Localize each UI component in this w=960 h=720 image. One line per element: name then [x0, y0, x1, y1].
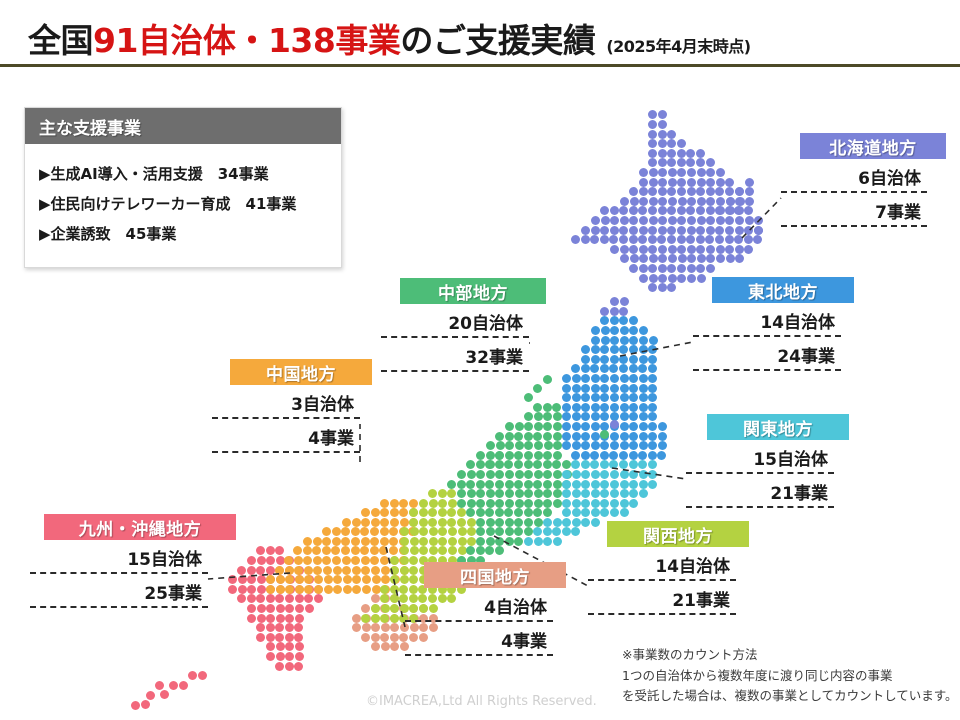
region-callout-shikoku[interactable]: 四国地方4自治体4事業: [405, 562, 553, 656]
map-dot: [687, 264, 696, 273]
map-dot: [370, 527, 379, 536]
map-dot: [505, 537, 514, 546]
map-dot: [610, 480, 619, 489]
map-dot: [600, 412, 609, 421]
map-dot: [572, 518, 581, 527]
map-dot: [351, 546, 360, 555]
underline-rule: [588, 613, 736, 615]
map-dot: [524, 441, 533, 450]
map-dot: [524, 489, 533, 498]
map-dot: [658, 120, 667, 129]
map-dot: [466, 480, 475, 489]
map-dot: [696, 264, 705, 273]
map-dot: [285, 642, 294, 651]
map-dot: [429, 537, 438, 546]
map-dot: [543, 451, 552, 460]
map-dot: [629, 187, 638, 196]
map-dot: [619, 226, 628, 235]
map-dot: [515, 470, 524, 479]
map-dot: [458, 527, 467, 536]
map-dot: [667, 226, 676, 235]
map-dot: [648, 149, 657, 158]
map-dot: [380, 633, 389, 642]
map-dot: [600, 345, 609, 354]
map-dot: [744, 245, 753, 254]
map-dot: [562, 489, 571, 498]
map-dot: [706, 226, 715, 235]
map-dot: [514, 432, 523, 441]
map-dot: [572, 393, 581, 402]
map-dot: [609, 235, 618, 244]
map-dot: [390, 614, 399, 623]
region-callout-chugoku[interactable]: 中国地方3自治体4事業: [212, 359, 360, 453]
map-dot: [390, 642, 399, 651]
map-dot: [380, 556, 389, 565]
map-dot: [247, 566, 256, 575]
map-dot: [295, 614, 304, 623]
map-dot: [389, 546, 398, 555]
map-dot: [390, 518, 399, 527]
map-dot: [600, 489, 609, 498]
map-dot: [706, 216, 715, 225]
map-dot: [257, 575, 266, 584]
map-dot: [629, 489, 638, 498]
map-dot: [419, 508, 428, 517]
map-dot: [667, 264, 676, 273]
map-dot: [648, 364, 657, 373]
region-label-chugoku: 中国地方: [230, 359, 372, 385]
map-dot: [687, 187, 696, 196]
map-dot: [591, 499, 600, 508]
map-dot: [572, 489, 581, 498]
map-dot: [725, 235, 734, 244]
map-dot: [639, 326, 648, 335]
map-dot: [572, 499, 581, 508]
map-dot: [706, 254, 715, 263]
map-dot: [571, 235, 580, 244]
map-dot: [476, 480, 485, 489]
map-dot: [390, 575, 399, 584]
map-dot: [591, 336, 600, 345]
map-dot: [658, 226, 667, 235]
map-dot: [658, 245, 667, 254]
map-dot: [639, 197, 648, 206]
map-dot: [629, 460, 638, 469]
map-dot: [534, 412, 543, 421]
map-dot: [725, 245, 734, 254]
map-dot: [725, 178, 734, 187]
map-dot: [745, 197, 754, 206]
map-dot: [457, 480, 466, 489]
map-dot: [285, 633, 294, 642]
map-dot: [658, 168, 667, 177]
region-projects-kyushu: 25事業: [30, 574, 208, 608]
map-dot: [238, 575, 247, 584]
map-dot: [352, 614, 361, 623]
map-dot: [543, 537, 552, 546]
map-dot: [256, 633, 265, 642]
map-dot: [581, 364, 590, 373]
map-dot: [572, 480, 581, 489]
value-text: 4事業: [501, 627, 547, 652]
map-dot: [600, 403, 609, 412]
map-dot: [639, 412, 648, 421]
map-dot: [754, 226, 763, 235]
map-dot: [266, 623, 275, 632]
map-dot: [438, 499, 447, 508]
map-dot: [504, 460, 513, 469]
map-dot: [495, 518, 504, 527]
map-dot: [620, 254, 629, 263]
map-dot: [600, 430, 609, 439]
map-dot: [562, 393, 571, 402]
map-dot: [410, 537, 419, 546]
map-dot: [648, 355, 657, 364]
map-dot: [486, 537, 495, 546]
map-dot: [620, 336, 629, 345]
map-dot: [504, 508, 513, 517]
map-dot: [754, 216, 763, 225]
map-dot: [486, 470, 495, 479]
map-dot: [686, 158, 695, 167]
map-dot: [610, 345, 619, 354]
map-dot: [648, 187, 657, 196]
map-dot: [515, 489, 524, 498]
map-dot: [324, 585, 333, 594]
value-text: 24事業: [777, 342, 835, 367]
map-dot: [668, 254, 677, 263]
map-dot: [726, 206, 735, 215]
map-dot: [380, 527, 389, 536]
map-dot: [667, 283, 676, 292]
map-dot: [629, 441, 638, 450]
region-municipalities-chubu: 20自治体: [381, 304, 529, 338]
map-dot: [639, 345, 648, 354]
map-dot: [476, 470, 485, 479]
map-dot: [706, 264, 715, 273]
map-dot: [247, 614, 256, 623]
map-dot: [238, 585, 247, 594]
map-dot: [553, 441, 562, 450]
map-dot: [495, 527, 504, 536]
map-dot: [600, 460, 609, 469]
map-dot: [591, 470, 600, 479]
map-dot: [745, 178, 754, 187]
map-dot: [581, 384, 590, 393]
map-dot: [438, 537, 447, 546]
map-dot: [639, 470, 648, 479]
map-dot: [476, 518, 485, 527]
underline-rule: [381, 370, 529, 372]
map-dot: [571, 364, 580, 373]
map-dot: [648, 374, 657, 383]
map-dot: [600, 470, 609, 479]
map-dot: [458, 537, 467, 546]
map-dot: [571, 527, 580, 536]
map-dot: [505, 451, 514, 460]
map-dot: [524, 499, 533, 508]
map-dot: [610, 420, 619, 429]
map-dot: [639, 226, 648, 235]
map-dot: [228, 585, 237, 594]
map-dot: [639, 403, 648, 412]
map-dot: [687, 245, 696, 254]
map-dot: [581, 480, 590, 489]
value-text: 25事業: [144, 579, 202, 604]
map-dot: [381, 575, 390, 584]
map-dot: [400, 518, 409, 527]
map-dot: [247, 594, 256, 603]
map-dot: [371, 633, 380, 642]
map-dot: [629, 403, 638, 412]
map-dot: [371, 518, 380, 527]
map-dot: [562, 460, 571, 469]
region-callout-chubu[interactable]: 中部地方20自治体32事業: [381, 278, 529, 372]
slide-root: 全国91自治体・138事業のご支援実績 (2025年4月末時点) 主な支援事業 …: [0, 0, 960, 720]
map-dot: [256, 566, 265, 575]
map-dot: [380, 508, 389, 517]
map-dot: [361, 556, 370, 565]
map-dot: [610, 216, 619, 225]
map-dot: [495, 451, 504, 460]
map-dot: [600, 451, 609, 460]
map-dot: [620, 470, 629, 479]
map-dot: [620, 245, 629, 254]
map-dot: [581, 374, 590, 383]
map-dot: [543, 460, 552, 469]
map-dot: [658, 187, 667, 196]
map-dot: [543, 489, 552, 498]
map-dot: [333, 575, 342, 584]
map-dot: [361, 604, 370, 613]
map-dot: [257, 604, 266, 613]
map-dot: [667, 149, 676, 158]
map-dot: [371, 642, 380, 651]
value-text: 7事業: [875, 198, 921, 223]
map-dot: [515, 499, 524, 508]
value-text: 21事業: [672, 586, 730, 611]
map-dot: [658, 432, 667, 441]
map-dot: [495, 480, 504, 489]
map-dot: [419, 499, 428, 508]
map-dot: [495, 537, 504, 546]
map-dot: [370, 537, 379, 546]
map-dot: [562, 508, 571, 517]
map-dot: [276, 575, 285, 584]
region-callout-kansai[interactable]: 関西地方14自治体21事業: [588, 521, 736, 615]
map-dot: [620, 422, 629, 431]
map-dot: [600, 480, 609, 489]
map-dot: [591, 403, 600, 412]
map-dot: [342, 518, 351, 527]
region-callout-tohoku[interactable]: 東北地方14自治体24事業: [693, 277, 841, 371]
map-dot: [600, 499, 609, 508]
map-dot: [639, 355, 648, 364]
map-dot: [553, 451, 562, 460]
map-dot: [247, 604, 256, 613]
map-dot: [610, 432, 619, 441]
map-dot: [495, 489, 504, 498]
map-dot: [543, 422, 552, 431]
map-dot: [390, 633, 399, 642]
map-dot: [629, 374, 638, 383]
map-dot: [572, 508, 581, 517]
region-projects-shikoku: 4事業: [405, 622, 553, 656]
map-dot: [342, 566, 351, 575]
map-dot: [553, 518, 562, 527]
map-dot: [610, 441, 619, 450]
map-dot: [648, 110, 657, 119]
map-dot: [610, 374, 619, 383]
map-dot: [648, 130, 657, 139]
map-dot: [362, 585, 371, 594]
map-dot: [362, 575, 371, 584]
map-dot: [505, 470, 514, 479]
map-dot: [638, 460, 647, 469]
map-dot: [610, 489, 619, 498]
map-dot: [600, 393, 609, 402]
map-dot: [476, 489, 485, 498]
region-callout-kyushu[interactable]: 九州・沖縄地方15自治体25事業: [30, 514, 208, 608]
map-dot: [533, 508, 542, 517]
map-dot: [361, 518, 370, 527]
map-dot: [658, 130, 667, 139]
map-dot: [352, 585, 361, 594]
map-dot: [543, 518, 552, 527]
map-dot: [687, 197, 696, 206]
map-dot: [706, 206, 715, 215]
map-dot: [609, 364, 618, 373]
map-dot: [553, 470, 562, 479]
underline-rule: [212, 451, 360, 453]
map-dot: [342, 556, 351, 565]
value-text: 14自治体: [760, 308, 835, 333]
map-dot: [600, 508, 609, 517]
map-dot: [505, 527, 514, 536]
map-dot: [716, 197, 725, 206]
map-dot: [696, 149, 705, 158]
map-dot: [275, 594, 284, 603]
map-dot: [390, 623, 399, 632]
map-dot: [514, 460, 523, 469]
map-dot: [648, 245, 657, 254]
map-dot: [677, 168, 686, 177]
region-projects-chugoku: 4事業: [212, 419, 360, 453]
map-dot: [629, 264, 638, 273]
map-dot: [371, 623, 380, 632]
map-dot: [294, 662, 303, 671]
map-dot: [610, 470, 619, 479]
map-dot: [629, 432, 638, 441]
map-dot: [600, 441, 609, 450]
map-dot: [524, 537, 533, 546]
map-dot: [303, 546, 312, 555]
map-dot: [610, 355, 619, 364]
map-dot: [620, 374, 629, 383]
map-dot: [514, 518, 523, 527]
map-dot: [294, 623, 303, 632]
map-dot: [257, 585, 266, 594]
map-dot: [179, 681, 188, 690]
map-dot: [610, 499, 619, 508]
map-dot: [514, 537, 523, 546]
region-callout-hokkaido[interactable]: 北海道地方6自治体7事業: [781, 133, 927, 227]
value-text: 32事業: [465, 343, 523, 368]
map-dot: [620, 480, 629, 489]
map-dot: [619, 460, 628, 469]
map-dot: [677, 235, 686, 244]
map-dot: [361, 566, 370, 575]
map-dot: [276, 614, 285, 623]
region-municipalities-kyushu: 15自治体: [30, 540, 208, 574]
map-dot: [466, 546, 475, 555]
map-dot: [562, 441, 571, 450]
map-dot: [581, 403, 590, 412]
map-dot: [476, 451, 485, 460]
map-dot: [562, 374, 571, 383]
map-dot: [581, 460, 590, 469]
map-dot: [247, 575, 256, 584]
map-dot: [409, 499, 418, 508]
map-dot: [658, 254, 667, 263]
value-text: 6自治体: [858, 164, 921, 189]
region-callout-kanto[interactable]: 関東地方15自治体21事業: [686, 414, 834, 508]
map-dot: [591, 384, 600, 393]
map-dot: [581, 393, 590, 402]
map-dot: [619, 355, 628, 364]
map-dot: [620, 508, 629, 517]
map-dot: [534, 537, 543, 546]
map-dot: [467, 499, 476, 508]
map-dot: [630, 197, 639, 206]
map-dot: [715, 226, 724, 235]
map-dot: [629, 226, 638, 235]
map-dot: [572, 384, 581, 393]
map-dot: [658, 149, 667, 158]
map-dot: [658, 441, 667, 450]
map-dot: [667, 235, 676, 244]
map-dot: [438, 508, 447, 517]
map-dot: [668, 197, 677, 206]
map-dot: [572, 441, 581, 450]
map-dot: [362, 623, 371, 632]
value-text: 4事業: [308, 424, 354, 449]
map-dot: [657, 235, 666, 244]
map-dot: [581, 355, 590, 364]
map-dot: [360, 527, 369, 536]
map-dot: [620, 441, 629, 450]
map-dot: [639, 168, 648, 177]
map-dot: [361, 633, 370, 642]
map-dot: [390, 508, 399, 517]
map-dot: [553, 412, 562, 421]
map-dot: [284, 556, 293, 565]
map-dot: [716, 254, 725, 263]
map-dot: [457, 470, 466, 479]
map-dot: [524, 480, 533, 489]
map-dot: [687, 254, 696, 263]
map-dot: [543, 375, 552, 384]
map-dot: [610, 336, 619, 345]
map-dot: [400, 537, 409, 546]
map-dot: [305, 604, 314, 613]
map-dot: [639, 254, 648, 263]
map-dot: [524, 422, 533, 431]
map-dot: [639, 245, 648, 254]
map-dot: [610, 384, 619, 393]
map-dot: [658, 110, 667, 119]
map-dot: [534, 422, 543, 431]
